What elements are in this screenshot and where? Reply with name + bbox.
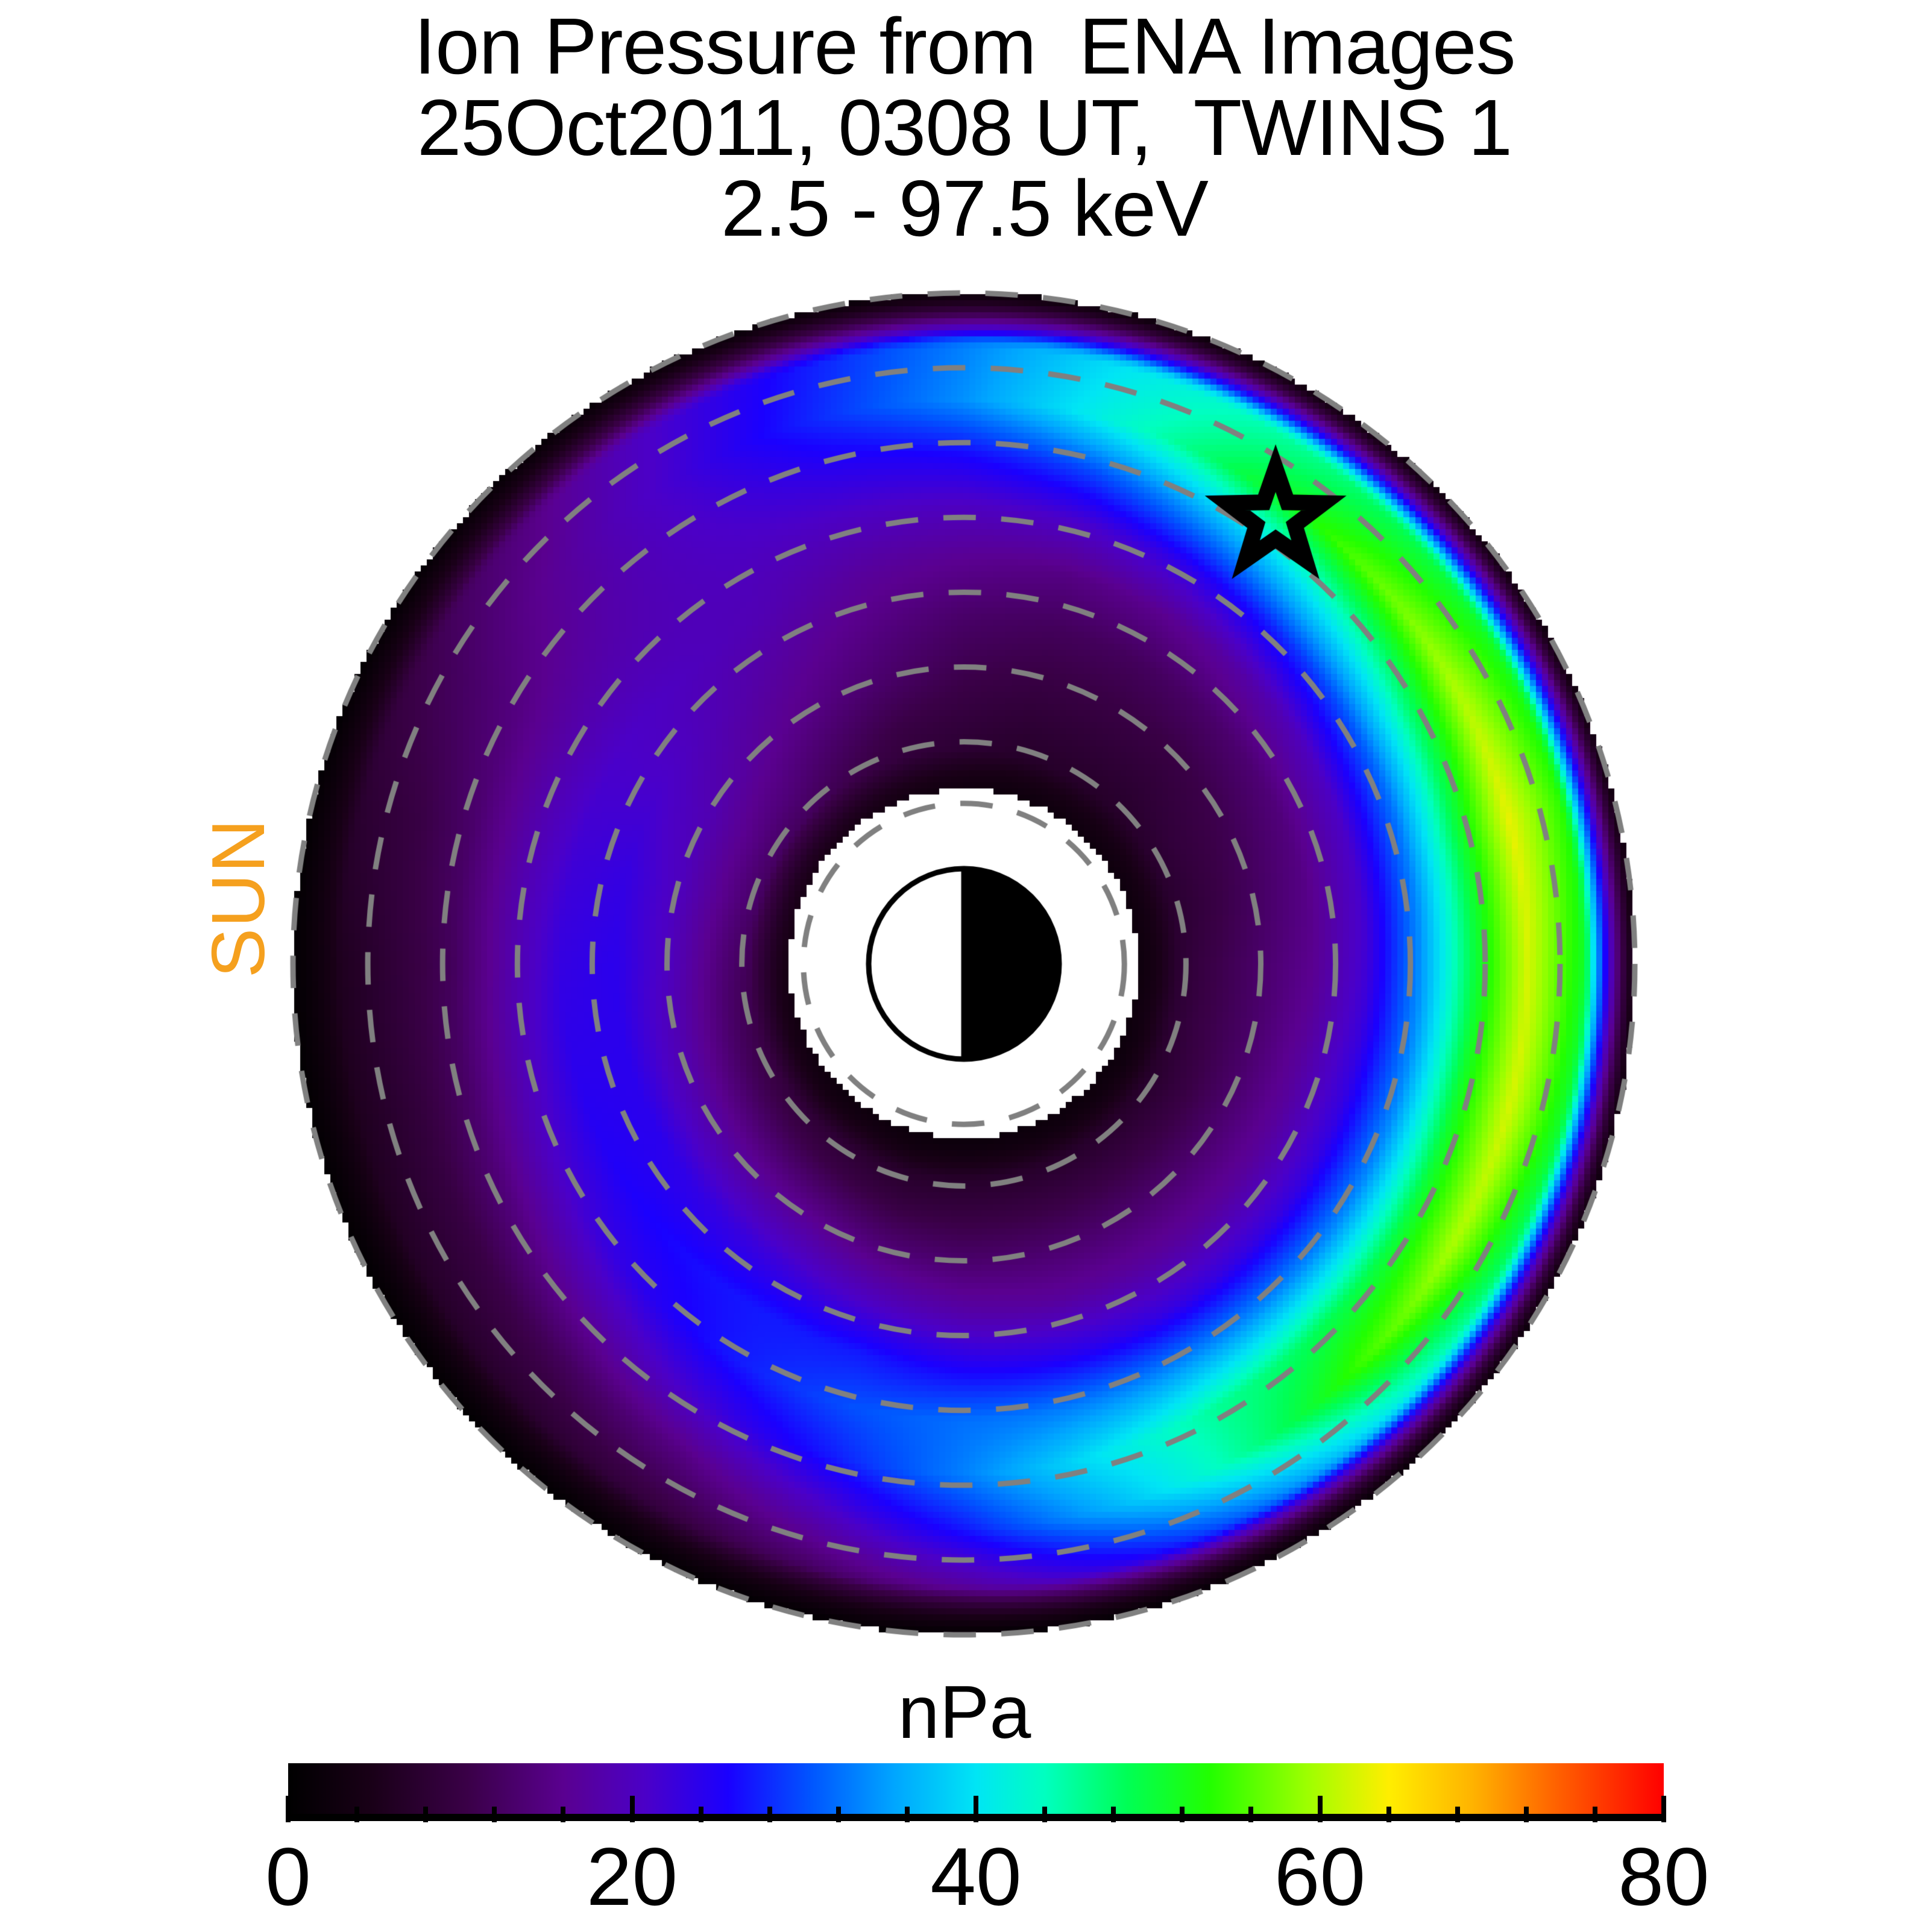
colorbar-major-tick [630, 1796, 635, 1822]
colorbar-minor-tick [423, 1807, 428, 1822]
colorbar-tick-label: 20 [554, 1830, 711, 1924]
colorbar-minor-tick [1524, 1807, 1529, 1822]
colorbar-tick-label: 40 [898, 1830, 1054, 1924]
colorbar-minor-tick [1248, 1807, 1253, 1822]
colorbar-tick-labels: 020406080 [0, 1830, 1929, 1932]
colorbar-minor-tick [1042, 1807, 1047, 1822]
figure-title: Ion Pressure from ENA Images 25Oct2011, … [0, 6, 1929, 250]
colorbar-tick-label: 80 [1585, 1830, 1742, 1924]
colorbar-minor-tick [1386, 1807, 1391, 1822]
title-line-2: 25Oct2011, 0308 UT, TWINS 1 [0, 87, 1929, 169]
colorbar-minor-tick [1111, 1807, 1116, 1822]
colorbar-major-tick [974, 1796, 978, 1822]
colorbar-minor-tick [767, 1807, 772, 1822]
ena-pressure-heatmap [288, 288, 1640, 1640]
colorbar-minor-tick [1455, 1807, 1460, 1822]
colorbar-minor-tick [699, 1807, 703, 1822]
figure-root: Ion Pressure from ENA Images 25Oct2011, … [0, 0, 1929, 1929]
colorbar-minor-tick [836, 1807, 841, 1822]
colorbar-major-tick [1661, 1796, 1666, 1822]
colorbar-minor-tick [492, 1807, 497, 1822]
title-line-1: Ion Pressure from ENA Images [0, 6, 1929, 87]
colorbar-tick-label: 0 [210, 1830, 367, 1924]
colorbar-major-tick [1318, 1796, 1323, 1822]
colorbar-minor-tick [905, 1807, 910, 1822]
colorbar [288, 1763, 1664, 1830]
colorbar-minor-tick [561, 1807, 565, 1822]
colorbar-minor-tick [1593, 1807, 1597, 1822]
sun-direction-label: SUN [196, 796, 268, 1001]
colorbar-tick-label: 60 [1242, 1830, 1399, 1924]
ena-pressure-polar-plot [288, 288, 1640, 1640]
colorbar-minor-tick [1180, 1807, 1185, 1822]
colorbar-major-tick [286, 1796, 291, 1822]
colorbar-minor-tick [354, 1807, 359, 1822]
colorbar-title: nPa [0, 1670, 1929, 1755]
title-line-3: 2.5 - 97.5 keV [0, 168, 1929, 250]
